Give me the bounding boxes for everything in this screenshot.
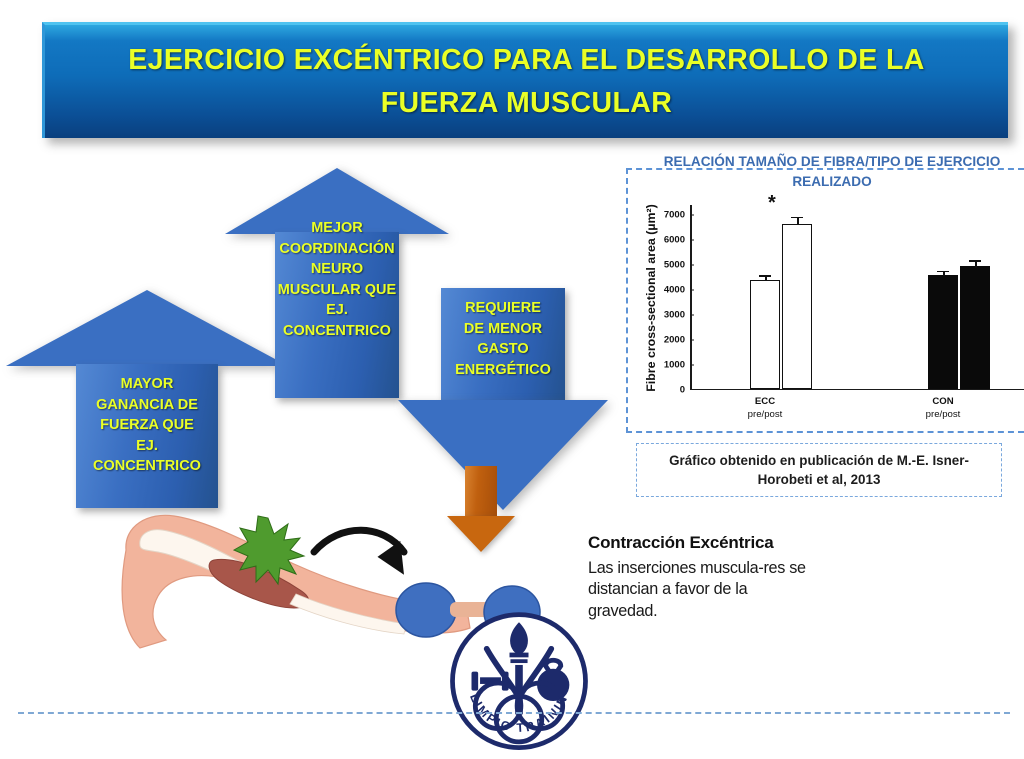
chart-y-tick-mark [690,290,694,291]
chart-group-sublabel: pre/post [926,409,961,422]
page-title: EJERCICIO EXCÉNTRICO PARA EL DESARROLLO … [45,39,1008,123]
olimpic-training-logo: OLIMPIC TRAINING [440,607,598,759]
chart-y-axis-label: Fibre cross-sectional area (µm²) [643,205,659,390]
contraccion-excentrica-body: Las inserciones muscula-res se distancia… [588,558,818,622]
chart-y-tick-label: 3000 [664,310,685,321]
chart-y-tick-label: 6000 [664,235,685,246]
chart-y-tick-label: 4000 [664,285,685,296]
chart-group-label: ECCpre/post [748,396,783,422]
chart-y-tick-mark [690,365,694,366]
title-line-1: EJERCICIO EXCÉNTRICO PARA EL DESARROLLO … [85,39,968,81]
chart-y-axis [690,205,692,390]
motion-arrow-icon [314,530,419,574]
chart-y-tick-label: 5000 [664,260,685,271]
contraccion-excentrica-block: Contracción Excéntrica Las inserciones m… [588,533,818,622]
chart-y-tick-mark [690,215,694,216]
chart-error-cap [759,275,771,277]
chart-x-axis [690,389,1024,391]
chart-source-caption: Gráfico obtenido en publicación de M.-E.… [647,451,991,490]
chart-group-name: ECC [748,396,783,409]
chart-significance-star: * [768,193,776,213]
chart-bar [960,266,990,389]
bottom-divider [18,712,1010,714]
chart-y-tick-label: 2000 [664,335,685,346]
chart-y-tick-label: 0 [680,385,685,396]
title-banner: EJERCICIO EXCÉNTRICO PARA EL DESARROLLO … [42,22,1008,138]
chart-y-tick-label: 7000 [664,210,685,221]
chart-y-tick-mark [690,315,694,316]
arrow-up-head-icon [225,168,449,234]
chart-bar [782,224,812,389]
bar-chart-plot-area: 01000200030004000500060007000*ECCpre/pos… [690,205,1024,390]
arrow-shaft [275,232,399,398]
chart-y-tick-mark [690,265,694,266]
arrow-shaft [441,288,565,402]
chart-error-cap [937,271,949,273]
chart-y-tick-label: 1000 [664,360,685,371]
chart-y-axis-label-text: Fibre cross-sectional area (µm²) [644,204,658,392]
chart-bar [750,280,780,389]
chart-y-tick-mark [690,340,694,341]
chart-title: RELACIÓN TAMAÑO DE FIBRA/TIPO DE EJERCIC… [640,152,1024,191]
arrow-shaft [76,364,218,508]
title-line-2: FUERZA MUSCULAR [85,82,968,124]
chart-group-sublabel: pre/post [748,409,783,422]
contraccion-excentrica-heading: Contracción Excéntrica [588,533,818,553]
chart-source-caption-box: Gráfico obtenido en publicación de M.-E.… [636,443,1002,497]
chart-error-cap [969,260,981,262]
chart-bar [928,275,958,389]
chart-group-name: CON [926,396,961,409]
slide-canvas: EJERCICIO EXCÉNTRICO PARA EL DESARROLLO … [0,0,1024,759]
chart-error-cap [791,217,803,219]
chart-group-label: CONpre/post [926,396,961,422]
chart-y-tick-mark [690,240,694,241]
